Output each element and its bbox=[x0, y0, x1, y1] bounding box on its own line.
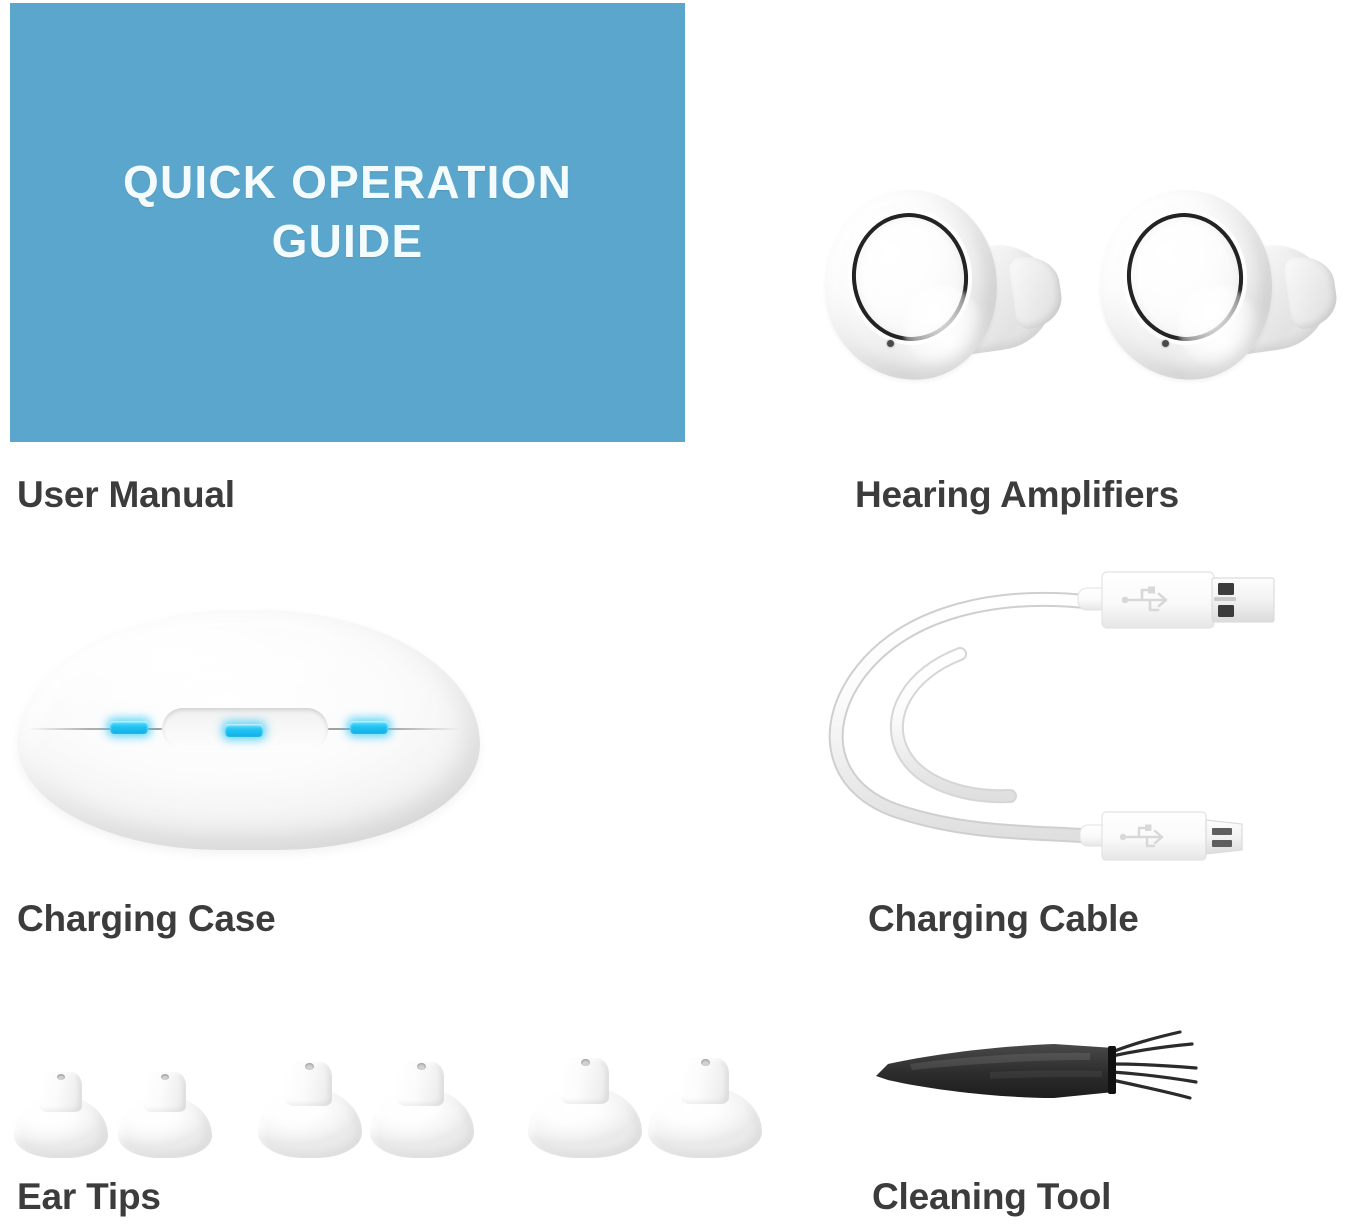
charging-case-led-indicator-3-icon bbox=[350, 721, 388, 734]
cleaning-tool-label: Cleaning Tool bbox=[872, 1178, 1111, 1215]
ear-tip-bore-hole bbox=[417, 1063, 426, 1070]
hearing-amplifiers-label: Hearing Amplifiers bbox=[855, 476, 1179, 513]
ear-tip-large-1-icon bbox=[528, 1054, 642, 1158]
ear-tip-small-2-icon bbox=[118, 1066, 212, 1158]
ear-tip-medium-1-icon bbox=[258, 1058, 362, 1158]
earbud-left-icon bbox=[825, 190, 1035, 405]
ear-tip-large-2-icon bbox=[648, 1054, 762, 1158]
package-contents-image: QUICK OPERATION GUIDE User Manual Hearin… bbox=[0, 0, 1354, 1230]
earbud-right-highlight bbox=[1178, 286, 1258, 368]
ear-tip-small-1-icon bbox=[14, 1066, 108, 1158]
charging-case-led-indicator-1-icon bbox=[110, 721, 148, 734]
cleaning-tool-ferrule bbox=[1108, 1046, 1116, 1094]
charging-case-illustration bbox=[10, 600, 490, 860]
charging-cable-wire bbox=[836, 599, 1090, 836]
ear-tips-label: Ear Tips bbox=[17, 1178, 161, 1215]
earbud-left-highlight bbox=[903, 286, 983, 368]
cleaning-tool-svg bbox=[840, 1020, 1340, 1150]
hearing-amplifiers-illustration bbox=[800, 175, 1354, 435]
ear-tip-bore-hole bbox=[161, 1074, 169, 1080]
user-manual-label: User Manual bbox=[17, 476, 235, 513]
earbud-left-mic-hole-icon bbox=[887, 340, 894, 347]
ear-tip-bore-hole bbox=[701, 1059, 710, 1066]
manual-card-title-line-1: QUICK OPERATION bbox=[68, 153, 628, 212]
cleaning-tool-bristles bbox=[1112, 1032, 1196, 1098]
cleaning-tool-illustration bbox=[840, 1020, 1340, 1150]
micro-usb-connector-icon bbox=[1080, 812, 1242, 860]
user-manual-card: QUICK OPERATION GUIDE bbox=[10, 3, 685, 442]
manual-card-title: QUICK OPERATION GUIDE bbox=[68, 153, 628, 271]
ear-tip-bore-hole bbox=[57, 1074, 65, 1080]
charging-case-label: Charging Case bbox=[17, 900, 276, 937]
ear-tip-bore-hole bbox=[581, 1059, 590, 1066]
earbud-right-icon bbox=[1100, 190, 1310, 405]
ear-tips-illustration bbox=[0, 1028, 780, 1158]
manual-card-title-line-2: GUIDE bbox=[68, 212, 628, 271]
earbud-right-mic-hole-icon bbox=[1162, 340, 1169, 347]
ear-tip-medium-2-icon bbox=[370, 1058, 474, 1158]
charging-case-led-indicator-2-icon bbox=[225, 724, 263, 737]
charging-cable-label: Charging Cable bbox=[868, 900, 1139, 937]
usb-a-connector-icon bbox=[1078, 572, 1274, 628]
charging-cable-svg bbox=[790, 550, 1350, 890]
charging-cable-illustration bbox=[790, 550, 1350, 890]
ear-tip-bore-hole bbox=[305, 1063, 314, 1070]
